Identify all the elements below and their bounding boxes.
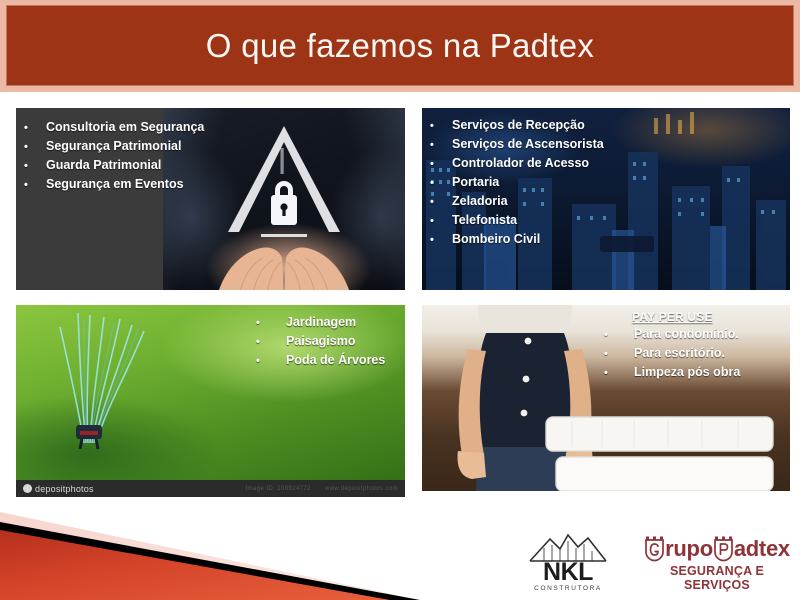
hands-illustration bbox=[209, 234, 359, 290]
list-item: • Bombeiro Civil bbox=[430, 230, 790, 249]
bullet-dot-icon: • bbox=[430, 137, 452, 154]
list-item-label: Para condomínio. bbox=[634, 325, 739, 344]
bullet-dot-icon: • bbox=[24, 177, 46, 194]
jardinagem-bullet-list: • Jardinagem • Paisagismo • Poda de Árvo… bbox=[256, 313, 385, 370]
bullet-dot-icon: • bbox=[24, 158, 46, 175]
list-item-label: Segurança em Eventos bbox=[46, 175, 184, 194]
list-item: • Segurança Patrimonial bbox=[24, 137, 186, 156]
bullet-dot-icon: • bbox=[430, 213, 452, 230]
bullet-dot-icon: • bbox=[604, 365, 634, 382]
bullet-dot-icon: • bbox=[256, 353, 286, 370]
bullet-dot-icon: • bbox=[604, 346, 634, 363]
bullet-dot-icon: • bbox=[604, 327, 634, 344]
page-title: O que fazemos na Padtex bbox=[206, 29, 594, 62]
list-item: • Controlador de Acesso bbox=[430, 154, 790, 173]
watermark-brand-label: depositphotos bbox=[35, 484, 94, 494]
bullet-dot-icon: • bbox=[256, 334, 286, 351]
list-item: • Serviços de Ascensorista bbox=[430, 135, 790, 154]
depositphotos-watermark: depositphotos Image ID: 108924772 www.de… bbox=[16, 480, 405, 497]
watermark-site: www.depositphotos.com bbox=[325, 486, 398, 492]
list-item: • Jardinagem bbox=[256, 313, 385, 332]
corner-decoration bbox=[0, 500, 420, 600]
slide: O que fazemos na Padtex bbox=[0, 0, 800, 600]
logo-nkl-tagline: CONSTRUTORA bbox=[520, 585, 616, 592]
list-item: • Limpeza pós obra bbox=[604, 363, 790, 382]
bullet-dot-icon: • bbox=[24, 120, 46, 137]
pay-per-use-heading: PAY PER USE bbox=[632, 310, 790, 324]
list-item-label: Consultoria em Segurança bbox=[46, 118, 204, 137]
logo-padtex-rupo: rupo bbox=[665, 538, 713, 560]
crest-p-icon bbox=[713, 536, 734, 562]
crest-g-icon bbox=[644, 536, 665, 562]
list-item: • Para escritório. bbox=[604, 344, 790, 363]
logo-padtex-tagline: SEGURANÇA E SERVIÇOS bbox=[642, 564, 792, 592]
servicos-prediais-bullet-list: • Serviços de Recepção • Serviços de Asc… bbox=[430, 116, 790, 249]
list-item: • Portaria bbox=[430, 173, 790, 192]
seguranca-text-block: • Consultoria em Segurança • Segurança P… bbox=[16, 108, 186, 194]
list-item: • Zeladoria bbox=[430, 192, 790, 211]
list-item: • Poda de Árvores bbox=[256, 351, 385, 370]
jardinagem-text-block: • Jardinagem • Paisagismo • Poda de Árvo… bbox=[256, 313, 385, 370]
list-item-label: Controlador de Acesso bbox=[452, 154, 589, 173]
panel-jardinagem: • Jardinagem • Paisagismo • Poda de Árvo… bbox=[16, 305, 405, 497]
list-item: • Paisagismo bbox=[256, 332, 385, 351]
list-item-label: Poda de Árvores bbox=[286, 351, 385, 370]
logo-row: NKL CONSTRUTORA rupo bbox=[520, 529, 792, 592]
logo-padtex-wordmark: rupo adtex bbox=[642, 536, 792, 562]
pay-per-use-text-block: PAY PER USE • Para condomínio. • Para es… bbox=[604, 310, 790, 382]
panel-seguranca: • Consultoria em Segurança • Segurança P… bbox=[16, 108, 405, 290]
shield-outline-icon bbox=[221, 122, 347, 240]
logo-nkl: NKL CONSTRUTORA bbox=[520, 529, 616, 592]
folded-towels-illustration bbox=[542, 413, 777, 491]
list-item-label: Para escritório. bbox=[634, 344, 725, 363]
bullet-dot-icon: • bbox=[430, 194, 452, 211]
list-item-label: Serviços de Ascensorista bbox=[452, 135, 604, 154]
list-item: • Telefonista bbox=[430, 211, 790, 230]
pay-per-use-bullet-list: • Para condomínio. • Para escritório. • … bbox=[604, 325, 790, 382]
list-item: • Serviços de Recepção bbox=[430, 116, 790, 135]
bullet-dot-icon: • bbox=[430, 118, 452, 135]
list-item-label: Paisagismo bbox=[286, 332, 355, 351]
list-item: • Consultoria em Segurança bbox=[24, 118, 186, 137]
bullet-dot-icon: • bbox=[24, 139, 46, 156]
title-band: O que fazemos na Padtex bbox=[6, 5, 794, 86]
bullet-dot-icon: • bbox=[430, 232, 452, 249]
bullet-dot-icon: • bbox=[430, 175, 452, 192]
list-item-label: Serviços de Recepção bbox=[452, 116, 585, 135]
list-item-label: Bombeiro Civil bbox=[452, 230, 540, 249]
bullet-dot-icon: • bbox=[430, 156, 452, 173]
list-item-label: Jardinagem bbox=[286, 313, 356, 332]
logo-nkl-name: NKL bbox=[520, 561, 616, 584]
water-spray-icon bbox=[34, 309, 214, 449]
panel-servicos-prediais: • Serviços de Recepção • Serviços de Asc… bbox=[422, 108, 790, 290]
servicos-prediais-text-block: • Serviços de Recepção • Serviços de Asc… bbox=[430, 116, 790, 249]
list-item: • Para condomínio. bbox=[604, 325, 790, 344]
title-bar: O que fazemos na Padtex bbox=[0, 0, 800, 92]
watermark-brand: depositphotos bbox=[23, 484, 94, 494]
list-item-label: Guarda Patrimonial bbox=[46, 156, 161, 175]
list-item: • Segurança em Eventos bbox=[24, 175, 186, 194]
panel-pay-per-use: PAY PER USE • Para condomínio. • Para es… bbox=[422, 305, 790, 491]
logo-padtex: rupo adtex SEGURANÇA E SERVIÇOS bbox=[642, 536, 792, 592]
bullet-dot-icon: • bbox=[256, 315, 286, 332]
seguranca-bullet-list: • Consultoria em Segurança • Segurança P… bbox=[24, 118, 186, 194]
list-item-label: Telefonista bbox=[452, 211, 517, 230]
list-item: • Guarda Patrimonial bbox=[24, 156, 186, 175]
list-item-label: Limpeza pós obra bbox=[634, 363, 740, 382]
list-item-label: Zeladoria bbox=[452, 192, 508, 211]
list-item-label: Portaria bbox=[452, 173, 499, 192]
watermark-meta: Image ID: 108924772 www.depositphotos.co… bbox=[246, 486, 398, 492]
watermark-image-id: Image ID: 108924772 bbox=[246, 486, 311, 492]
camera-icon bbox=[23, 484, 32, 493]
list-item-label: Segurança Patrimonial bbox=[46, 137, 181, 156]
logo-padtex-adtex: adtex bbox=[734, 538, 790, 560]
